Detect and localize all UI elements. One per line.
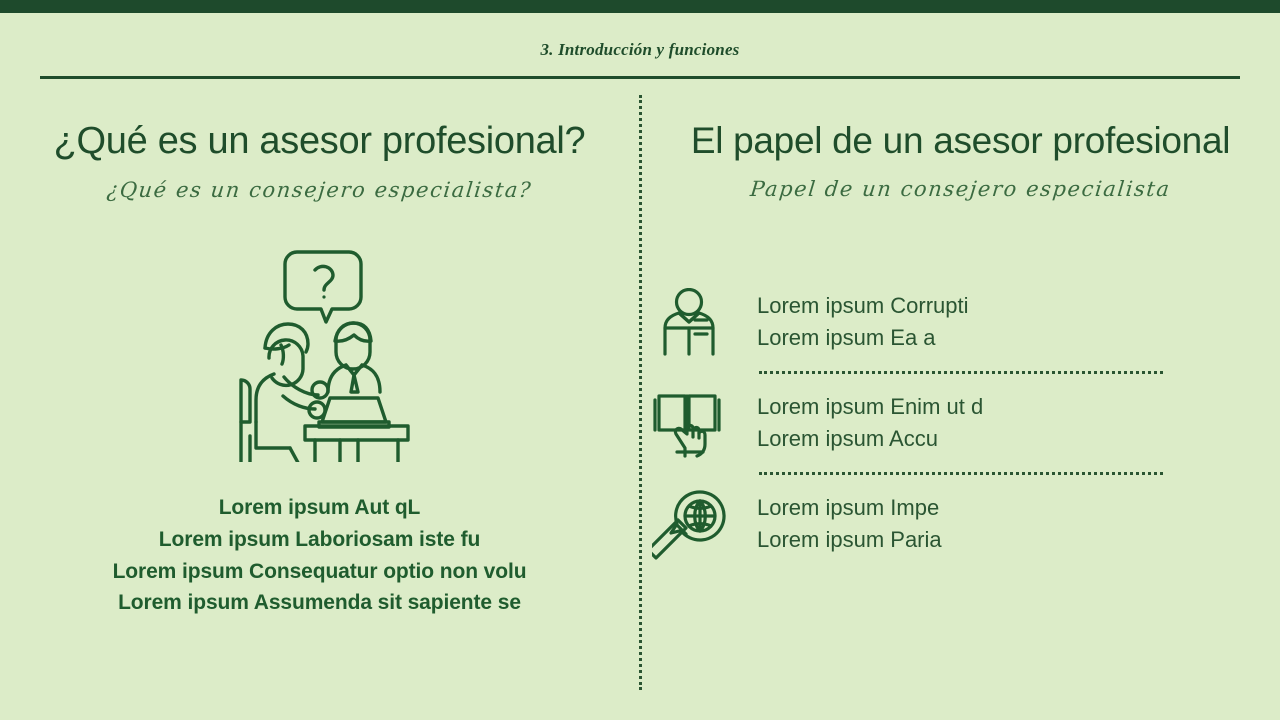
- list-item[interactable]: Lorem ipsum Enim ut d Lorem ipsum Accu: [641, 380, 1280, 466]
- right-column-title: El papel de un asesor profesional: [641, 120, 1280, 163]
- list-item-line-1: Lorem ipsum Enim ut d: [757, 391, 983, 423]
- globe-speech-bubble-pencil-icon: [641, 488, 737, 560]
- right-column-subtitle: Papel de un consejero especialista: [640, 177, 1280, 201]
- left-column: ¿Qué es un asesor profesional? ¿Qué es u…: [0, 120, 639, 619]
- list-separator: [759, 371, 1163, 374]
- role-list: Lorem ipsum Corrupti Lorem ipsum Ea a: [641, 279, 1280, 567]
- left-column-title: ¿Qué es un asesor profesional?: [0, 120, 639, 164]
- left-column-subtitle: ¿Qué es un consejero especialista?: [0, 178, 640, 202]
- left-line-2: Lorem ipsum Laboriosam iste fu: [0, 524, 639, 556]
- slide-root: 3. Introducción y funciones ¿Qué es un a…: [0, 0, 1280, 720]
- right-column: El papel de un asesor profesional Papel …: [641, 120, 1280, 567]
- left-column-text-block: Lorem ipsum Aut qL Lorem ipsum Laboriosa…: [0, 492, 639, 620]
- person-reading-book-icon: [641, 288, 737, 356]
- list-item-text: Lorem ipsum Impe Lorem ipsum Paria: [757, 492, 942, 556]
- left-line-4: Lorem ipsum Assumenda sit sapiente se: [0, 587, 639, 619]
- left-line-3: Lorem ipsum Consequatur optio non volu: [0, 556, 639, 588]
- list-item-line-2: Lorem ipsum Paria: [757, 524, 942, 556]
- list-item-text: Lorem ipsum Enim ut d Lorem ipsum Accu: [757, 391, 983, 455]
- list-item-line-2: Lorem ipsum Accu: [757, 423, 983, 455]
- list-item-line-1: Lorem ipsum Corrupti: [757, 290, 969, 322]
- slide-header: 3. Introducción y funciones: [0, 40, 1280, 60]
- list-item-line-2: Lorem ipsum Ea a: [757, 322, 969, 354]
- list-item[interactable]: Lorem ipsum Corrupti Lorem ipsum Ea a: [641, 279, 1280, 365]
- header-title: 3. Introducción y funciones: [0, 40, 1280, 60]
- left-line-1: Lorem ipsum Aut qL: [0, 492, 639, 524]
- list-item[interactable]: Lorem ipsum Impe Lorem ipsum Paria: [641, 481, 1280, 567]
- list-item-line-1: Lorem ipsum Impe: [757, 492, 942, 524]
- hand-pointing-book-icon: [641, 388, 737, 458]
- list-item-text: Lorem ipsum Corrupti Lorem ipsum Ea a: [757, 290, 969, 354]
- consultation-meeting-illustration: [0, 240, 639, 462]
- header-divider-rule: [40, 76, 1240, 79]
- top-accent-bar: [0, 0, 1280, 13]
- list-separator: [759, 472, 1163, 475]
